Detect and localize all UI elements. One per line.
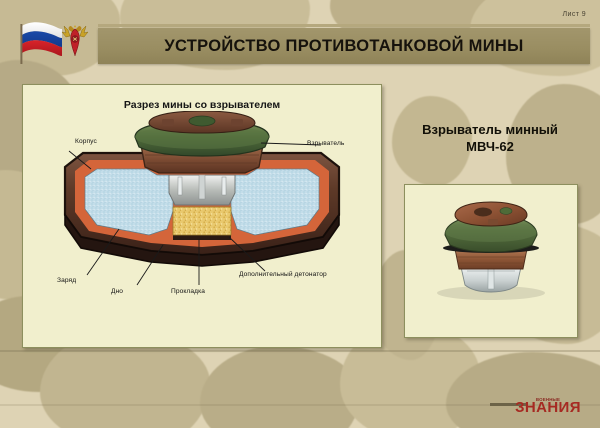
fuze-heading-line2: МВЧ-62 <box>466 139 514 154</box>
fuze-cap-lug <box>231 119 243 126</box>
cross-section-panel: Разрез мины со взрывателем <box>22 84 382 348</box>
callout-detonator: Дополнительный детонатор <box>239 271 327 278</box>
page-title: УСТРОЙСТВО ПРОТИВОТАНКОВОЙ МИНЫ <box>98 28 590 64</box>
sheet-number: Лист 9 <box>563 11 586 18</box>
fuze-cap-tab <box>488 219 498 225</box>
fuze-heading: Взрыватель минный МВЧ-62 <box>392 121 588 155</box>
header-top-rule <box>98 24 590 27</box>
fuze-photo-illustration <box>405 185 577 337</box>
fuze-cap-plug <box>189 116 215 126</box>
firing-pin <box>199 175 205 199</box>
logo-wordmark: ЗНАНИЯ <box>507 399 589 416</box>
fuze-photo-panel <box>404 184 578 338</box>
fuze-cap-aperture <box>474 208 492 217</box>
fuze-cap-green-plug <box>500 208 512 215</box>
callout-prokladka: Прокладка <box>171 288 205 295</box>
cross-section-caption: Разрез мины со взрывателем <box>23 99 381 111</box>
callout-vzryvatel: Взрыватель <box>307 140 344 147</box>
fuze-cap-lug <box>162 119 174 126</box>
camo-horizontal-rule <box>0 350 600 352</box>
striker-pin <box>222 177 226 195</box>
callout-zaryad: Заряд <box>57 277 76 284</box>
fuze-heading-line1: Взрыватель минный <box>422 122 558 137</box>
striker-pin <box>178 177 182 195</box>
callout-dno: Дно <box>111 288 123 295</box>
fuze-cup-rib <box>488 269 494 289</box>
callout-korpus: Корпус <box>75 138 97 145</box>
poster-root: Лист 9 <box>0 0 600 428</box>
explosive-charge-left <box>85 169 173 235</box>
supplementary-detonator <box>173 207 231 235</box>
explosive-charge-right <box>231 169 319 235</box>
russian-flag-emblem-icon <box>18 16 92 72</box>
camo-blob <box>200 346 360 428</box>
